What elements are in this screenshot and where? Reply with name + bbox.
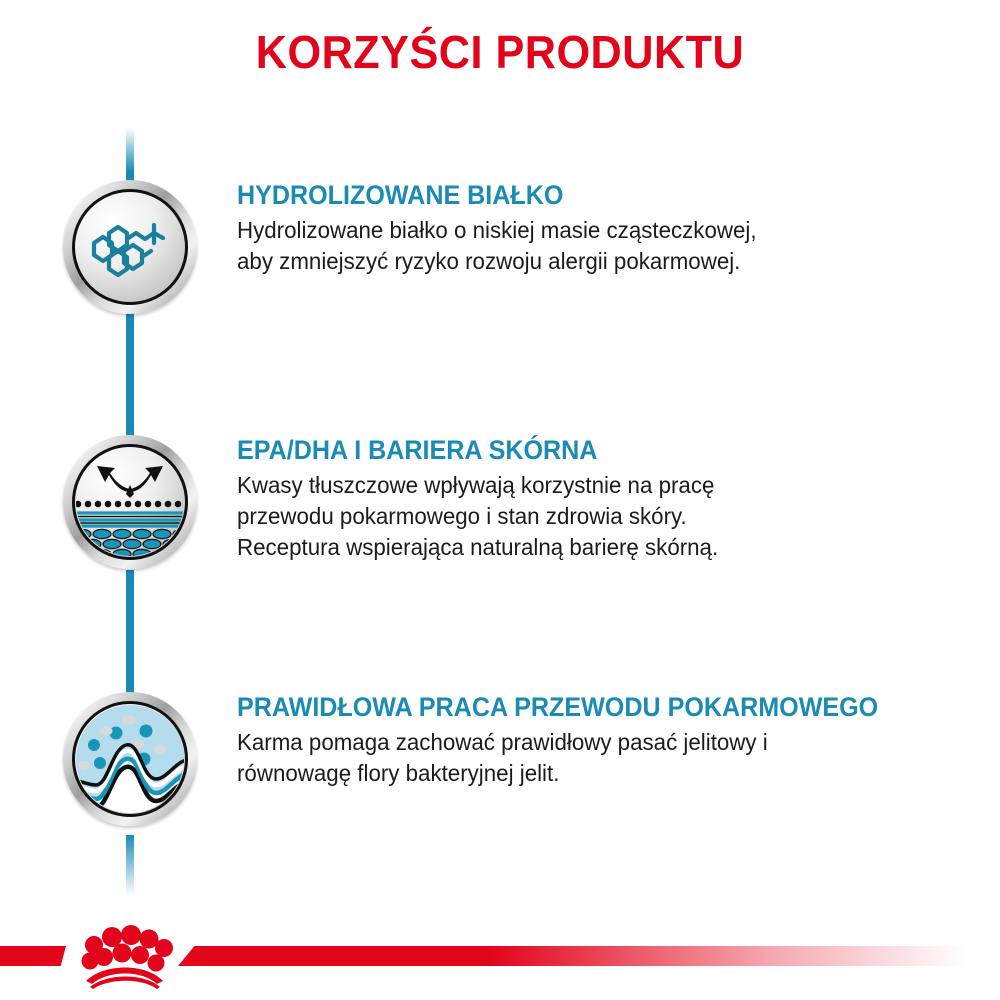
benefit-body-1: Hydrolizowane białko o niskiej masie czą… (237, 215, 969, 277)
benefit-heading-1: HYDROLIZOWANE BIAŁKO (237, 180, 939, 210)
benefit-body-line: aby zmniejszyć ryzyko rozwoju alergii po… (237, 246, 969, 277)
product-benefits-page: KORZYŚCI PRODUKTU (0, 0, 1000, 1000)
footer-bar-left (0, 946, 66, 966)
footer-bar-right (178, 946, 1000, 966)
benefit-text-2: EPA/DHA I BARIERA SKÓRNA Kwasy tłuszczow… (237, 435, 992, 563)
royal-canin-crown-logo (64, 925, 182, 989)
digestive-wave-icon (72, 701, 188, 817)
benefit-body-line: równowagę flory bakteryjnej jelit. (237, 758, 969, 789)
benefit-body-line: Kwasy tłuszczowe wpływają korzystnie na … (237, 470, 969, 501)
skin-barrier-arrows-icon (72, 444, 188, 560)
benefit-heading-3: PRAWIDŁOWA PRACA PRZEWODU POKARMOWEGO (237, 692, 939, 722)
benefit-text-3: PRAWIDŁOWA PRACA PRZEWODU POKARMOWEGO Ka… (237, 692, 992, 789)
footer (0, 915, 1000, 1000)
benefit-item-3: PRAWIDŁOWA PRACA PRZEWODU POKARMOWEGO Ka… (0, 692, 1000, 862)
benefit-body-2: Kwasy tłuszczowe wpływają korzystnie na … (237, 470, 969, 563)
benefit-body-3: Karma pomaga zachować prawidłowy pasać j… (237, 727, 969, 789)
molecule-hexagon-icon (72, 189, 188, 305)
benefit-body-line: Hydrolizowane białko o niskiej masie czą… (237, 215, 969, 246)
benefit-heading-2: EPA/DHA I BARIERA SKÓRNA (237, 435, 939, 465)
benefit-body-line: Karma pomaga zachować prawidłowy pasać j… (237, 727, 969, 758)
benefit-body-line: przewodu pokarmowego i stan zdrowia skór… (237, 501, 969, 532)
benefit-body-line: Receptura wspierająca naturalną barierę … (237, 532, 969, 563)
benefit-text-1: HYDROLIZOWANE BIAŁKO Hydrolizowane białk… (237, 180, 992, 277)
benefit-icon-badge-3 (63, 692, 197, 826)
benefit-icon-badge-1 (63, 180, 197, 314)
benefit-item-1: HYDROLIZOWANE BIAŁKO Hydrolizowane białk… (0, 180, 1000, 350)
benefit-icon-badge-2 (63, 435, 197, 569)
page-title: KORZYŚCI PRODUKTU (30, 25, 970, 79)
benefit-item-2: EPA/DHA I BARIERA SKÓRNA Kwasy tłuszczow… (0, 435, 1000, 605)
